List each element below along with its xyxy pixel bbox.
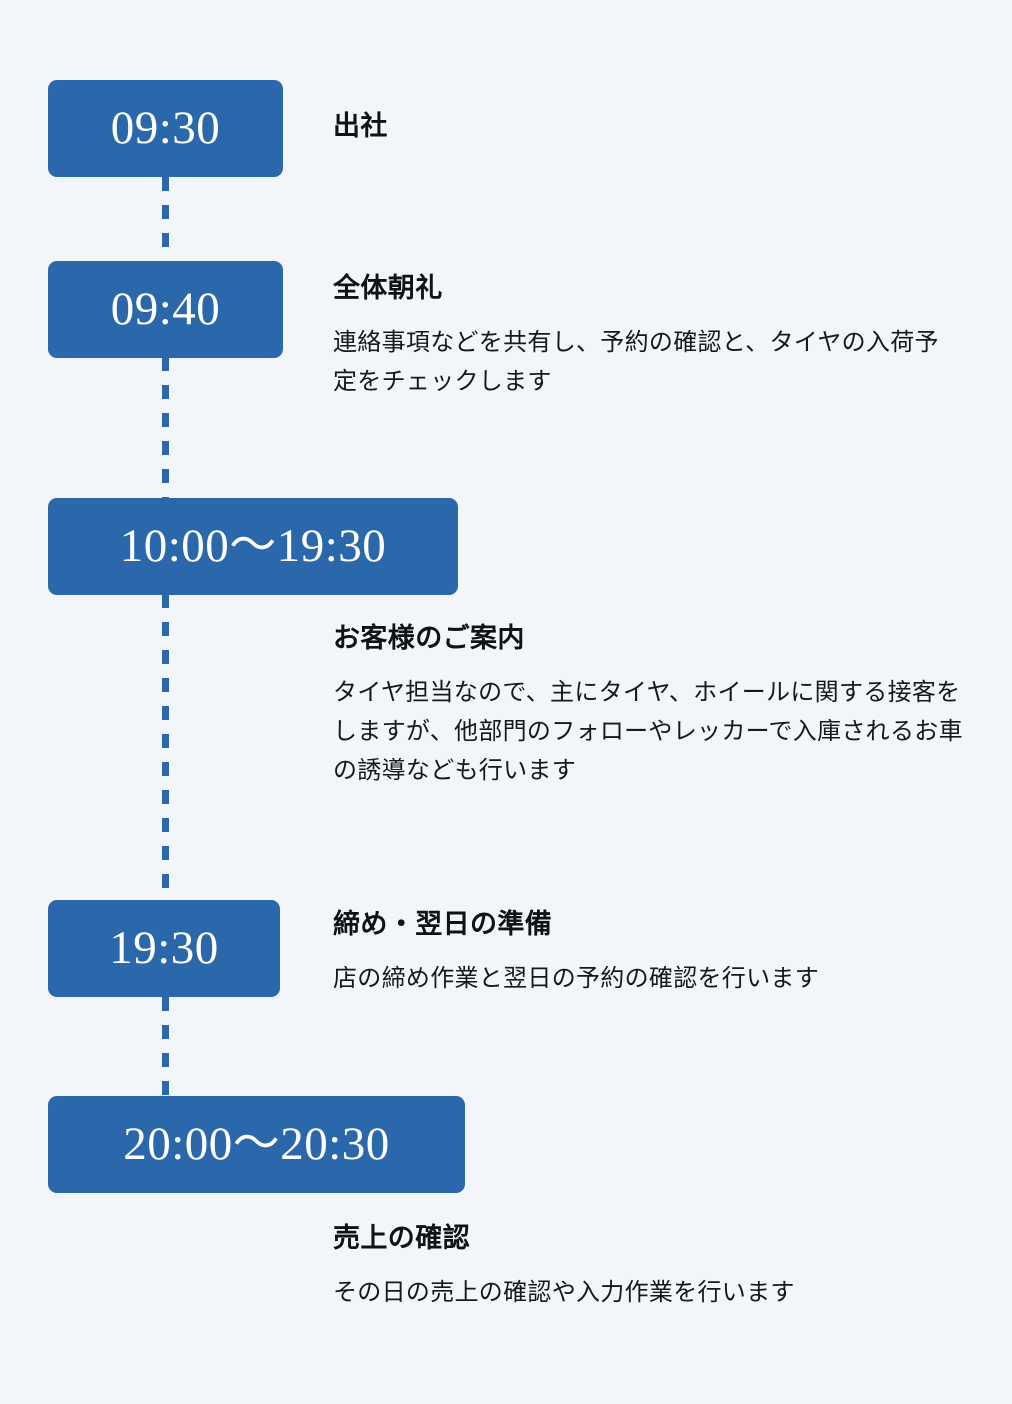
timeline-entry-title-1: 出社	[333, 110, 963, 144]
timeline-entry-title-2: 全体朝礼	[333, 272, 963, 306]
timeline-entry-title-3: お客様のご案内	[333, 622, 963, 656]
timeline-entry-2: 全体朝礼 連絡事項などを共有し、予約の確認と、タイヤの入荷予定をチェックします	[333, 272, 963, 402]
timeline-entry-5: 売上の確認 その日の売上の確認や入力作業を行います	[333, 1222, 963, 1313]
timeline-connector-3	[162, 594, 169, 900]
timeline-connector-4	[162, 997, 169, 1096]
timeline-entry-3: お客様のご案内 タイヤ担当なので、主にタイヤ、ホイールに関する接客をしますが、他…	[333, 622, 963, 790]
timeline-badge-time-1: 09:30	[48, 80, 283, 177]
timeline-entry-title-5: 売上の確認	[333, 1222, 963, 1256]
timeline-entry-title-4: 締め・翌日の準備	[333, 908, 963, 942]
timeline-badge-time-4: 19:30	[48, 900, 280, 997]
timeline-badge-time-5: 20:00〜20:30	[48, 1096, 465, 1193]
timeline-badge-time-3: 10:00〜19:30	[48, 498, 458, 595]
daily-schedule-timeline: 09:30 出社 09:40 全体朝礼 連絡事項などを共有し、予約の確認と、タイ…	[0, 0, 1012, 1404]
timeline-entry-4: 締め・翌日の準備 店の締め作業と翌日の予約の確認を行います	[333, 908, 963, 999]
timeline-entry-1: 出社	[333, 110, 963, 144]
timeline-badge-time-2: 09:40	[48, 261, 283, 358]
timeline-entry-desc-3: タイヤ担当なので、主にタイヤ、ホイールに関する接客をしますが、他部門のフォローや…	[333, 674, 963, 791]
timeline-connector-2	[162, 357, 169, 498]
timeline-entry-desc-5: その日の売上の確認や入力作業を行います	[333, 1274, 963, 1313]
timeline-connector-1	[162, 177, 169, 261]
timeline-entry-desc-4: 店の締め作業と翌日の予約の確認を行います	[333, 960, 963, 999]
timeline-entry-desc-2: 連絡事項などを共有し、予約の確認と、タイヤの入荷予定をチェックします	[333, 324, 963, 402]
